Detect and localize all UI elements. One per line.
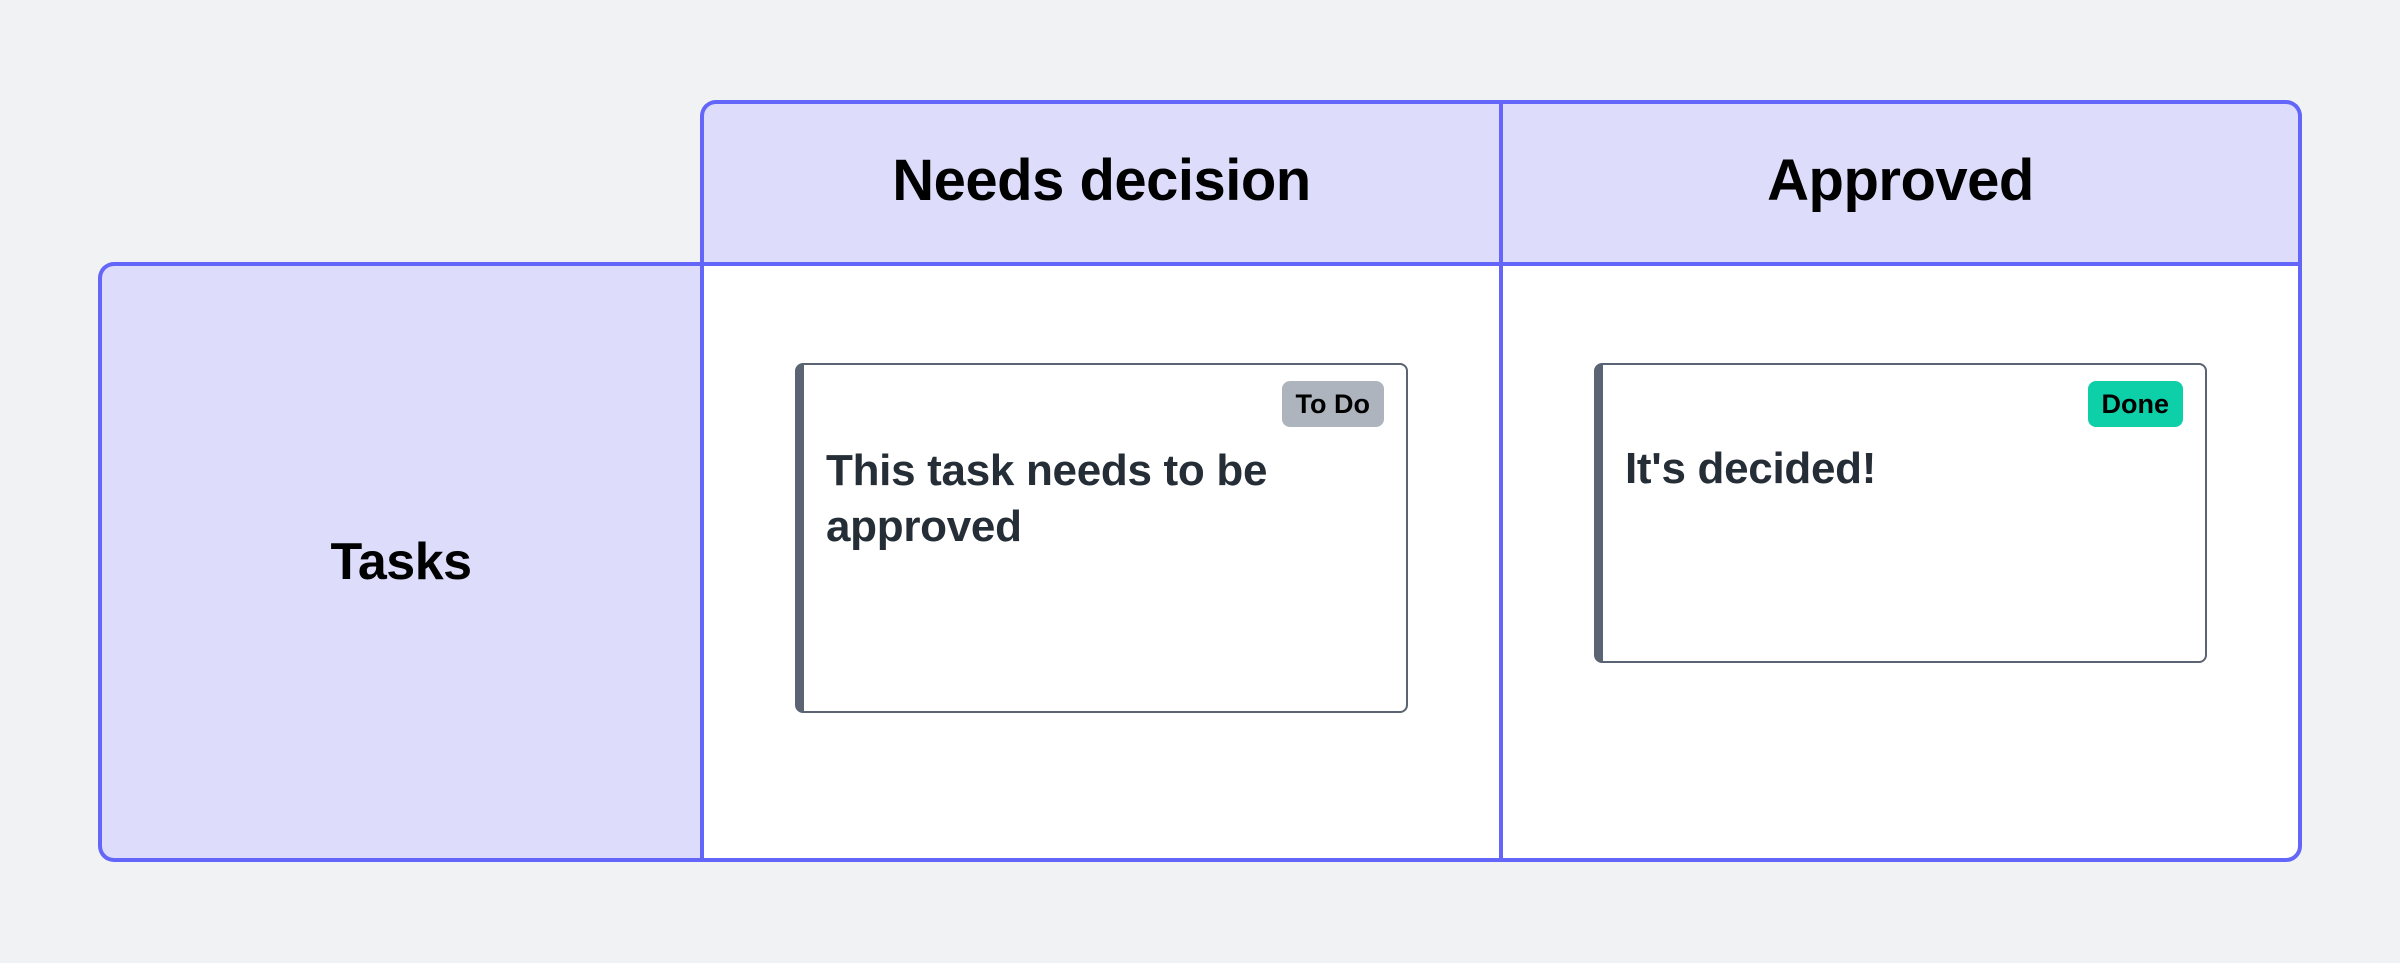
board-lanes: To Do This task needs to be approved Don… bbox=[700, 262, 2302, 862]
column-header-needs-decision[interactable]: Needs decision bbox=[704, 104, 1499, 262]
column-header-label: Approved bbox=[1767, 152, 2034, 210]
status-badge[interactable]: To Do bbox=[1282, 381, 1384, 427]
row-header-tasks[interactable]: Tasks bbox=[98, 262, 700, 862]
column-header-label: Needs decision bbox=[892, 152, 1310, 210]
lane-needs-decision[interactable]: To Do This task needs to be approved bbox=[704, 266, 1499, 858]
task-card[interactable]: Done It's decided! bbox=[1594, 363, 2207, 663]
card-badge-row: Done bbox=[1625, 381, 2183, 427]
status-badge[interactable]: Done bbox=[2088, 381, 2184, 427]
card-title: This task needs to be approved bbox=[826, 443, 1384, 556]
lane-approved[interactable]: Done It's decided! bbox=[1499, 266, 2298, 858]
card-title: It's decided! bbox=[1625, 441, 2183, 497]
kanban-board: Needs decision Approved Tasks To Do This… bbox=[0, 0, 2400, 963]
row-header-label: Tasks bbox=[330, 536, 471, 588]
card-badge-row: To Do bbox=[826, 381, 1384, 427]
column-header-approved[interactable]: Approved bbox=[1499, 104, 2298, 262]
board-column-header-row: Needs decision Approved bbox=[700, 100, 2302, 262]
task-card[interactable]: To Do This task needs to be approved bbox=[795, 363, 1408, 713]
board-body-row: Tasks To Do This task needs to be approv… bbox=[98, 262, 2302, 862]
